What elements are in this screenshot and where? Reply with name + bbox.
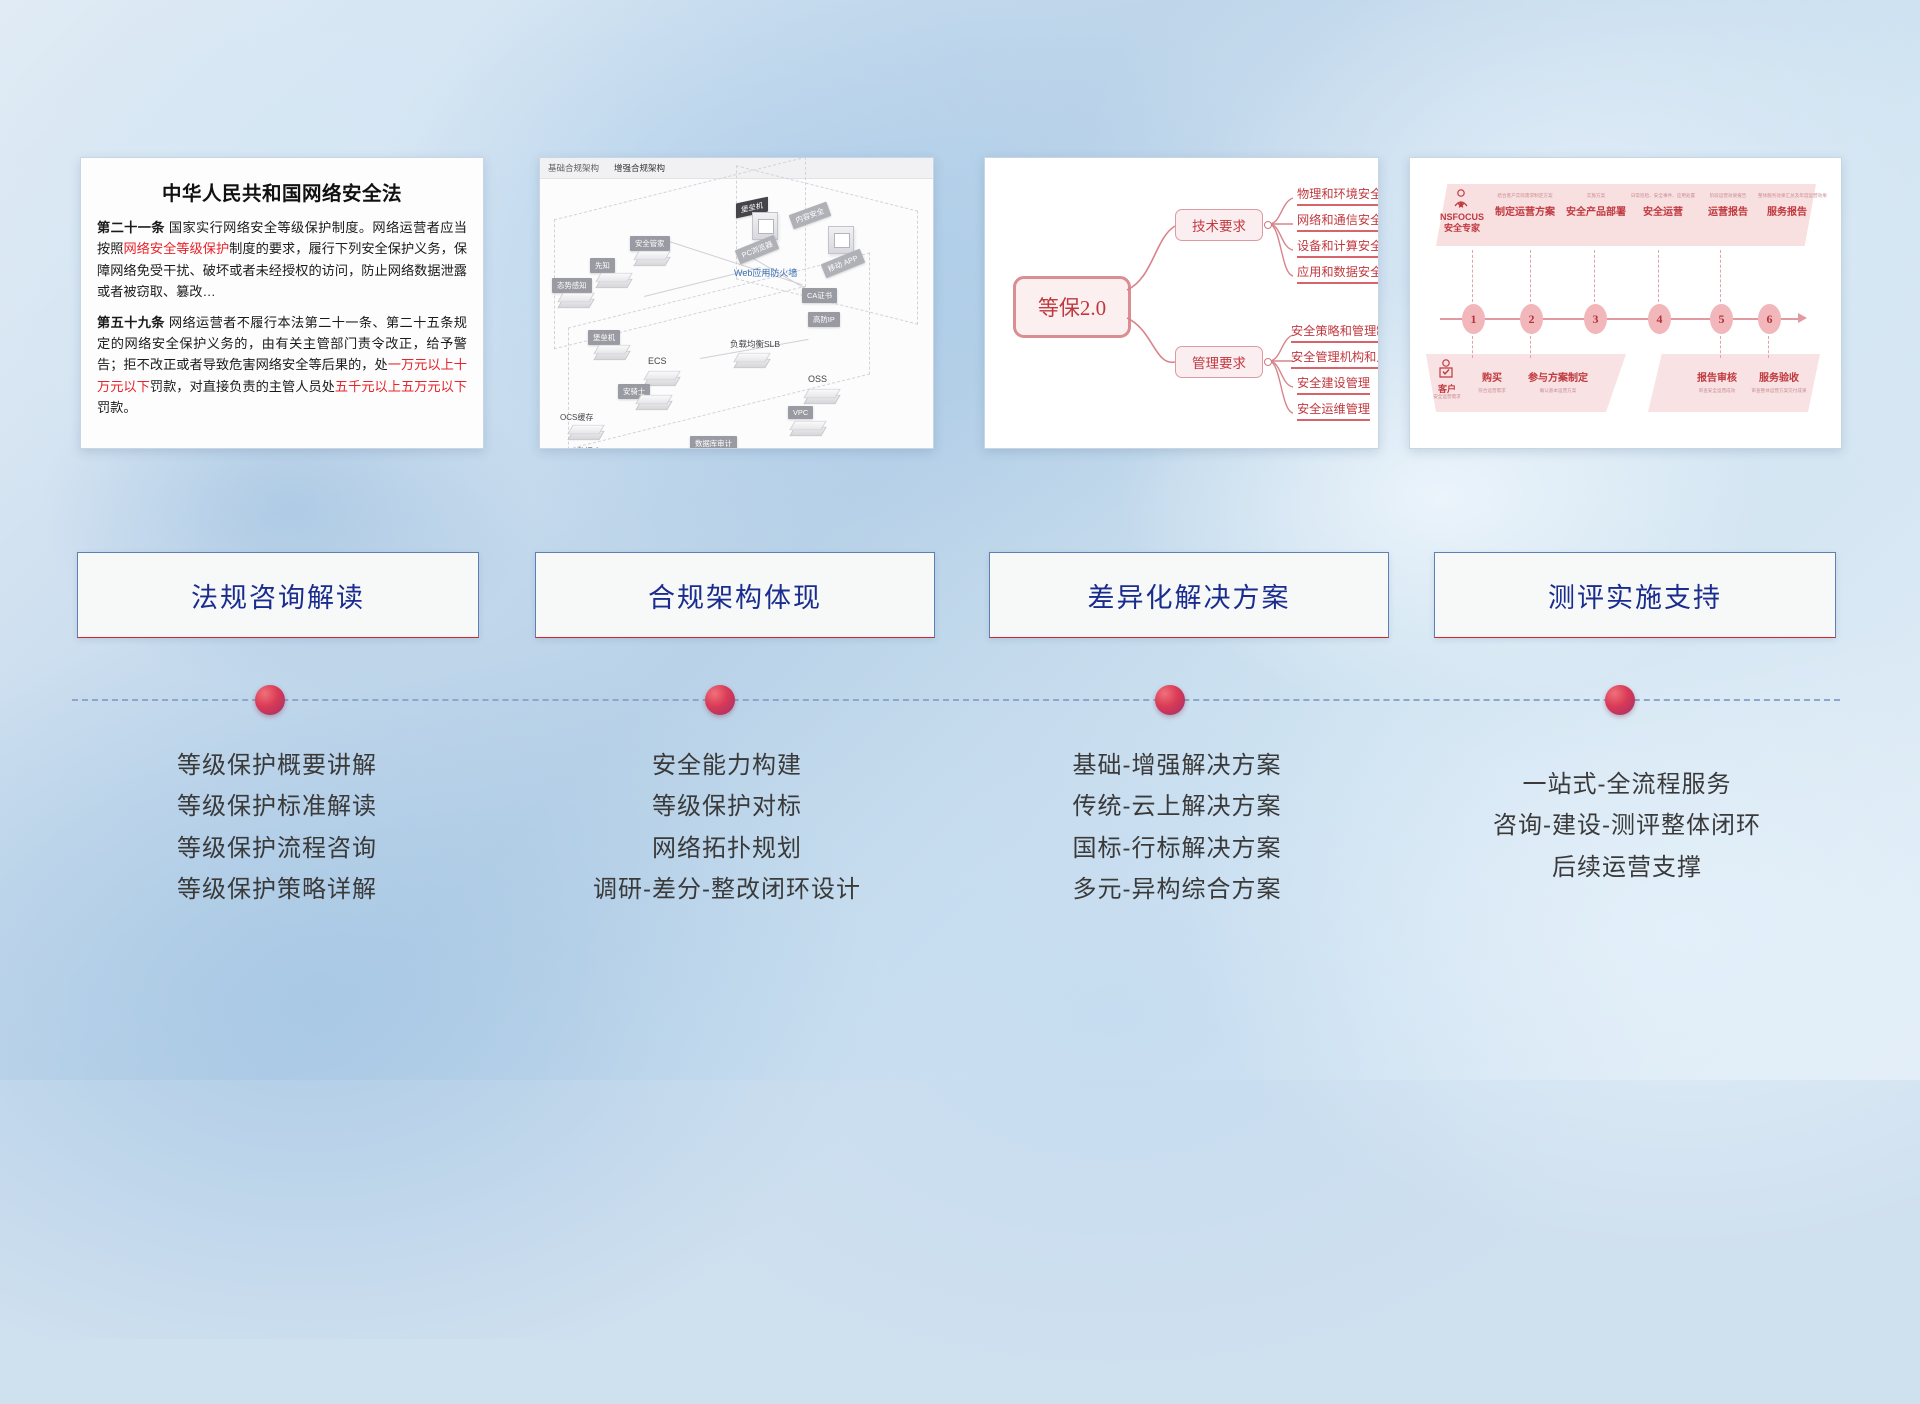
nsfocus-top-step-4: 阶段运营效果报告 运营报告 bbox=[1698, 193, 1758, 218]
nsfocus-tick-4 bbox=[1658, 250, 1659, 302]
customer-sub: 安全运营需求 bbox=[1424, 394, 1470, 400]
list-item: 调研-差分-整改闭环设计 bbox=[512, 869, 942, 910]
nsfocus-top-step-5: 整体服务效果汇总及年度运营效果 服务报告 bbox=[1758, 193, 1816, 218]
node-label-ca: CA证书 bbox=[802, 288, 837, 303]
cube-ocs bbox=[570, 422, 600, 444]
article-59-label: 第五十九条 bbox=[97, 315, 165, 330]
mindmap-leaf-physical: 物理和环境安全 bbox=[1297, 184, 1379, 206]
section-items-2: 基础-增强解决方案 传统-云上解决方案 国标-行标解决方案 多元-异构综合方案 bbox=[962, 745, 1392, 910]
mindmap-branch-technical: 技术要求 bbox=[1175, 209, 1263, 241]
list-item: 咨询-建设-测评整体闭环 bbox=[1412, 805, 1842, 846]
cube-bastion-host bbox=[596, 342, 626, 364]
article-21-highlight: 网络安全等级保护 bbox=[123, 241, 229, 256]
list-item: 传统-云上解决方案 bbox=[962, 786, 1392, 827]
section-label-text-3: 测评实施支持 bbox=[1548, 576, 1722, 615]
mindmap-dot-management bbox=[1264, 358, 1272, 366]
cube-ecs bbox=[646, 368, 676, 390]
list-item: 一站式-全流程服务 bbox=[1412, 764, 1842, 805]
mindmap-leaf-network: 网络和通信安全 bbox=[1297, 210, 1379, 232]
mindmap-leaf-application: 应用和数据安全 bbox=[1297, 262, 1379, 284]
device-mobile-app bbox=[828, 226, 854, 254]
nsfocus-axis bbox=[1440, 318, 1800, 320]
nsfocus-node-5: 5 bbox=[1710, 304, 1733, 334]
nsfocus-bottom-step-3: 报告审核 审查安全运营成效 bbox=[1688, 364, 1746, 393]
article-59-text-2: 罚款，对直接负责的主管人员处 bbox=[150, 379, 335, 394]
nsfocus-tick-8 bbox=[1720, 336, 1721, 358]
nsfocus-top-step-3: 日常巡检、安全事件、应用处置 安全运营 bbox=[1628, 193, 1698, 218]
nsfocus-node-2: 2 bbox=[1520, 304, 1543, 334]
expert-avatar-icon bbox=[1450, 188, 1472, 210]
list-item: 等级保护标准解读 bbox=[62, 786, 492, 827]
law-title: 中华人民共和国网络安全法 bbox=[97, 177, 467, 206]
mindmap-branch-management: 管理要求 bbox=[1175, 346, 1263, 378]
nsfocus-node-4: 4 bbox=[1648, 304, 1671, 334]
thumbnail-card-nsfocus[interactable]: NSFOCUS 安全专家 结合客户实际需求制定方案 制定运营方案 实施方案 安全… bbox=[1409, 157, 1842, 449]
list-item: 等级保护概要讲解 bbox=[62, 745, 492, 786]
list-item: 安全能力构建 bbox=[512, 745, 942, 786]
section-items-1: 安全能力构建 等级保护对标 网络拓扑规划 调研-差分-整改闭环设计 bbox=[512, 745, 942, 910]
law-document: 中华人民共和国网络安全法 第二十一条 国家实行网络安全等级保护制度。网络运营者应… bbox=[81, 158, 483, 448]
mindmap-dot-technical bbox=[1264, 221, 1272, 229]
node-label-rds: RDS数据库 bbox=[560, 446, 601, 449]
slide-stage: 中华人民共和国网络安全法 第二十一条 国家实行网络安全等级保护制度。网络运营者应… bbox=[0, 0, 1920, 1080]
nsfocus-node-1: 1 bbox=[1462, 304, 1485, 334]
mindmap-leaf-policy: 安全策略和管理制度 bbox=[1291, 321, 1379, 343]
customer-avatar-icon bbox=[1436, 358, 1456, 380]
nsfocus-tick-1 bbox=[1472, 250, 1473, 302]
nsfocus-timeline: NSFOCUS 安全专家 结合客户实际需求制定方案 制定运营方案 实施方案 安全… bbox=[1410, 158, 1841, 448]
section-label-text-1: 合规架构体现 bbox=[648, 576, 822, 615]
mindmap-leaf-construction: 安全建设管理 bbox=[1297, 373, 1370, 395]
list-item: 基础-增强解决方案 bbox=[962, 745, 1392, 786]
nsfocus-tick-3 bbox=[1594, 250, 1595, 302]
nsfocus-bottom-step-1: 购买 符合运营需求 bbox=[1466, 364, 1518, 393]
nsfocus-node-6: 6 bbox=[1758, 304, 1781, 334]
nsfocus-axis-arrow bbox=[1798, 313, 1807, 323]
architecture-canvas: 堡垒机 安全管家 先知 态势感知 堡垒机 ECS 安骑士 OCS缓存 RDS数据… bbox=[540, 178, 933, 448]
node-label-waf: Web应用防火墙 bbox=[734, 266, 797, 279]
node-label-slb: 负载均衡SLB bbox=[730, 338, 780, 350]
nsfocus-node-3: 3 bbox=[1584, 304, 1607, 334]
thumbnail-card-mindmap[interactable]: 等保2.0 技术要求 管理要求 物理和环境安全 网络和通信安全 设备和计算安全 … bbox=[984, 157, 1379, 449]
nsfocus-top-step-2: 实施方案 安全产品部署 bbox=[1562, 193, 1630, 218]
architecture-diagram: 基础合规架构 增强合规架构 堡垒机 安全管家 先知 态势感知 堡垒机 bbox=[540, 158, 933, 448]
cube-oss bbox=[806, 386, 836, 408]
nsfocus-top-step-1: 结合客户实际需求制定方案 制定运营方案 bbox=[1488, 193, 1562, 218]
article-59-text-3: 罚款。 bbox=[97, 400, 137, 415]
nsfocus-bottom-step-4: 服务验收 审查整体运营方案交付成果 bbox=[1750, 364, 1808, 393]
section-label-box-3[interactable]: 测评实施支持 bbox=[1434, 552, 1836, 638]
section-label-text-0: 法规咨询解读 bbox=[191, 576, 365, 615]
law-article-21: 第二十一条 国家实行网络安全等级保护制度。网络运营者应当按照网络安全等级保护制度… bbox=[97, 217, 467, 303]
nsfocus-tick-7 bbox=[1530, 336, 1531, 358]
timeline-dashed-line bbox=[72, 699, 1840, 701]
section-items-3: 一站式-全流程服务 咨询-建设-测评整体闭环 后续运营支撑 bbox=[1412, 764, 1842, 888]
list-item: 等级保护流程咨询 bbox=[62, 828, 492, 869]
cube-slb bbox=[736, 350, 766, 372]
list-item: 等级保护策略详解 bbox=[62, 869, 492, 910]
mindmap-leaf-operation: 安全运维管理 bbox=[1297, 399, 1370, 421]
cube-security-butler bbox=[636, 248, 666, 270]
nsfocus-brand-line2: 安全专家 bbox=[1444, 223, 1480, 233]
mindmap: 等保2.0 技术要求 管理要求 物理和环境安全 网络和通信安全 设备和计算安全 … bbox=[985, 158, 1378, 448]
tab-enhanced-compliance[interactable]: 增强合规架构 bbox=[614, 162, 665, 174]
nsfocus-brand: NSFOCUS 安全专家 bbox=[1440, 212, 1484, 235]
list-item: 多元-异构综合方案 bbox=[962, 869, 1392, 910]
section-label-box-1[interactable]: 合规架构体现 bbox=[535, 552, 935, 638]
section-items-0: 等级保护概要讲解 等级保护标准解读 等级保护流程咨询 等级保护策略详解 bbox=[62, 745, 492, 910]
nsfocus-brand-line1: NSFOCUS bbox=[1440, 212, 1484, 222]
cube-xianzhi bbox=[598, 270, 628, 292]
law-article-59: 第五十九条 网络运营者不履行本法第二十一条、第二十五条规定的网络安全保护义务的，… bbox=[97, 312, 467, 419]
cube-vpc bbox=[792, 418, 822, 440]
section-label-box-0[interactable]: 法规咨询解读 bbox=[77, 552, 479, 638]
list-item: 国标-行标解决方案 bbox=[962, 828, 1392, 869]
mindmap-leaf-device: 设备和计算安全 bbox=[1297, 236, 1379, 258]
list-item: 网络拓扑规划 bbox=[512, 828, 942, 869]
node-label-antiddos: 高防IP bbox=[808, 312, 840, 327]
list-item: 后续运营支撑 bbox=[1412, 847, 1842, 888]
nsfocus-tick-2 bbox=[1530, 250, 1531, 302]
article-59-highlight-2: 五千元以上五万元以下 bbox=[335, 379, 467, 394]
timeline-dot-1[interactable] bbox=[705, 685, 735, 715]
cube-situational-awareness bbox=[560, 290, 590, 312]
node-label-ecs: ECS bbox=[648, 356, 667, 366]
timeline-dot-3[interactable] bbox=[1605, 685, 1635, 715]
mindmap-leaf-organization: 安全管理机构和人员 bbox=[1291, 347, 1379, 369]
cube-anqishi bbox=[638, 392, 668, 414]
thumbnail-card-law[interactable]: 中华人民共和国网络安全法 第二十一条 国家实行网络安全等级保护制度。网络运营者应… bbox=[80, 157, 484, 449]
section-label-box-2[interactable]: 差异化解决方案 bbox=[989, 552, 1389, 638]
tab-basic-compliance[interactable]: 基础合规架构 bbox=[548, 162, 599, 174]
node-label-db-audit: 数据库审计 bbox=[690, 436, 737, 449]
list-item: 等级保护对标 bbox=[512, 786, 942, 827]
timeline-dot-0[interactable] bbox=[255, 685, 285, 715]
node-label-oss: OSS bbox=[808, 374, 827, 384]
nsfocus-tick-9 bbox=[1768, 336, 1769, 358]
section-label-text-2: 差异化解决方案 bbox=[1088, 576, 1291, 615]
thumbnail-card-architecture[interactable]: 基础合规架构 增强合规架构 堡垒机 安全管家 先知 态势感知 堡垒机 bbox=[539, 157, 934, 449]
nsfocus-bottom-step-2: 参与方案制定 确认基本运营方案 bbox=[1520, 364, 1596, 393]
nsfocus-tick-6 bbox=[1472, 336, 1473, 358]
timeline-dot-2[interactable] bbox=[1155, 685, 1185, 715]
nsfocus-tick-5 bbox=[1720, 250, 1721, 302]
article-21-label: 第二十一条 bbox=[97, 220, 165, 235]
